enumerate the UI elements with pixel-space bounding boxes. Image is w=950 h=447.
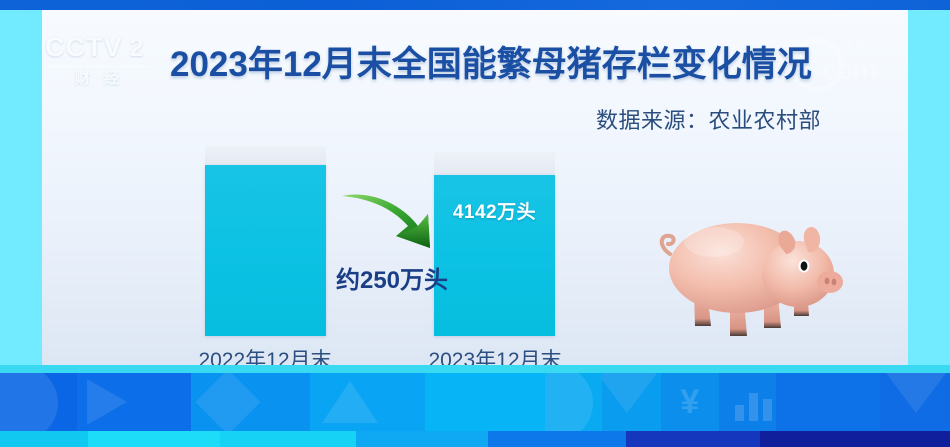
banner-cell-dtri-b bbox=[880, 373, 950, 431]
banner-cell-diamond bbox=[191, 373, 309, 431]
circle-shape-icon bbox=[0, 373, 58, 431]
yen-currency-icon: ¥ bbox=[680, 385, 699, 419]
banner-cell-triangle bbox=[77, 373, 192, 431]
decline-arrow-icon bbox=[338, 186, 448, 266]
banner-cell-dtri bbox=[602, 373, 661, 431]
banner-bot-cell bbox=[356, 431, 488, 447]
bottom-decorative-banner: ¥ bbox=[0, 365, 950, 447]
banner-cell-plain-a bbox=[425, 373, 545, 431]
arrow-up-icon bbox=[322, 381, 378, 423]
bar-chart: 2022年12月末 4142万头 2023年12月末 bbox=[42, 10, 908, 365]
banner-cell-barchart bbox=[719, 373, 776, 431]
triangle-down-icon bbox=[886, 373, 946, 413]
banner-bot-cell bbox=[760, 431, 950, 447]
top-blue-strip bbox=[0, 0, 950, 10]
bar-2023: 4142万头 bbox=[434, 175, 555, 336]
bar-chart-icon bbox=[735, 393, 772, 421]
broadcast-screen: CCTV 2 财经 央视网 com 2023年12月末全国能繁母猪存栏变化情况 … bbox=[0, 0, 950, 447]
banner-bot-cell bbox=[88, 431, 220, 447]
bar-label-2023: 2023年12月末 bbox=[390, 344, 600, 365]
bar-cap-2023 bbox=[434, 152, 555, 176]
bar-cap-2022 bbox=[205, 146, 326, 166]
banner-cell-plain-b bbox=[776, 373, 880, 431]
banner-cell-circle-b bbox=[545, 373, 602, 431]
right-cyan-rail bbox=[908, 10, 950, 365]
bar-2022 bbox=[205, 165, 326, 336]
banner-bottom-row bbox=[0, 431, 950, 447]
triangle-right-icon bbox=[87, 379, 127, 425]
bar-label-2022: 2022年12月末 bbox=[160, 344, 370, 365]
banner-cell-circle bbox=[0, 373, 77, 431]
left-cyan-rail bbox=[0, 10, 42, 365]
decline-amount-label: 约250万头 bbox=[322, 260, 462, 295]
banner-bot-cell bbox=[626, 431, 760, 447]
triangle-down-icon bbox=[602, 373, 657, 413]
pig-illustration bbox=[652, 196, 862, 346]
bar-value-2023: 4142万头 bbox=[434, 197, 555, 224]
banner-middle-row: ¥ bbox=[0, 373, 950, 431]
chart-card: CCTV 2 财经 央视网 com 2023年12月末全国能繁母猪存栏变化情况 … bbox=[42, 10, 908, 365]
banner-bot-cell bbox=[0, 431, 88, 447]
banner-bot-cell bbox=[220, 431, 356, 447]
banner-bot-cell bbox=[488, 431, 626, 447]
banner-cell-arrow-up bbox=[310, 373, 425, 431]
diamond-shape-icon bbox=[196, 373, 261, 431]
banner-cell-yen: ¥ bbox=[661, 373, 718, 431]
circle-shape-icon bbox=[545, 373, 593, 431]
banner-top-strip bbox=[0, 365, 950, 373]
